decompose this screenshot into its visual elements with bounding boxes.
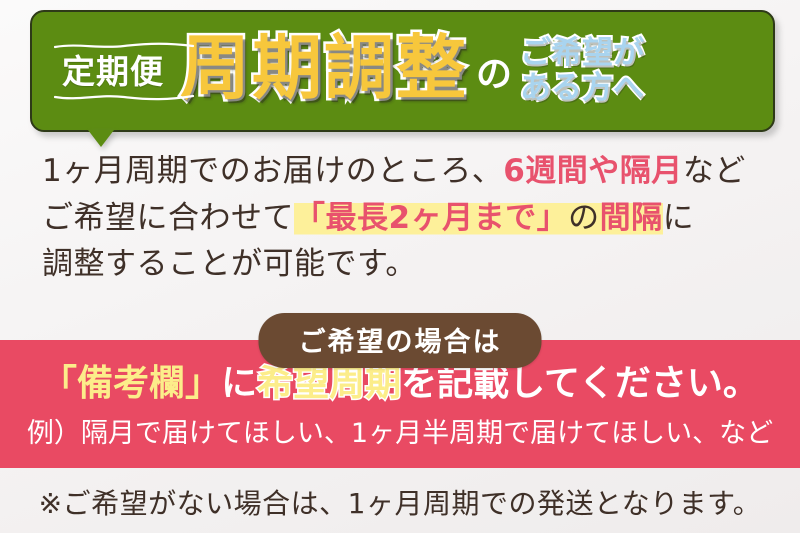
body-line-1-emphasis: 6週間や隔月 xyxy=(503,153,683,189)
body-line-2: ご希望に合わせて「最長2ヶ月まで」の間隔に xyxy=(42,195,772,242)
wave-rule-top-icon xyxy=(54,42,194,50)
header-title-particle: の xyxy=(476,57,512,93)
footer-note: ※ご希望がない場合は、1ヶ月周期での発送となります。 xyxy=(0,482,800,522)
body-line-2-emphasis-2: 間隔 xyxy=(600,200,663,236)
pink-headline-part-c: 希望周期 xyxy=(257,363,401,404)
header-title-sub-line2: ある方へ xyxy=(520,71,644,106)
header-title-sub: ご希望が ある方へ xyxy=(520,36,644,107)
pink-headline: 「備考欄」に希望周期を記載してください。 xyxy=(0,366,800,402)
body-line-3: 調整することが可能です。 xyxy=(42,241,772,288)
pink-example-text: 例）隔月で届けてほしい、1ヶ月半周期で届けてほしい、など xyxy=(0,420,800,447)
body-line-1-part-c: など xyxy=(683,153,746,189)
pink-headline-part-d: を記載してください。 xyxy=(401,363,759,404)
wave-rule-bottom-icon xyxy=(54,93,194,101)
header-title-main: 周期調整 xyxy=(180,33,468,103)
subscription-tag: 定期便 xyxy=(60,49,166,94)
body-paragraph: 1ヶ月周期でのお届けのところ、6週間や隔月など ご希望に合わせて「最長2ヶ月まで… xyxy=(42,148,772,288)
body-line-1-part-a: 1ヶ月周期でのお届けのところ、 xyxy=(42,153,503,189)
body-line-2-part-a: ご希望に合わせて xyxy=(42,200,294,236)
body-line-2-part-c: の xyxy=(568,200,600,236)
header-box-background: 定期便 周期調整 の ご希望が ある方へ xyxy=(30,10,775,132)
subscription-tag-label: 定期便 xyxy=(62,55,164,88)
pink-headline-part-b: に xyxy=(221,363,257,404)
request-case-badge: ご希望の場合は xyxy=(259,313,542,368)
promo-banner: 定期便 周期調整 の ご希望が ある方へ 1ヶ月周期でのお届け xyxy=(0,0,800,533)
body-line-2-emphasis: 「最長2ヶ月まで」 xyxy=(294,200,568,236)
body-line-1: 1ヶ月周期でのお届けのところ、6週間や隔月など xyxy=(42,148,772,195)
body-line-2-part-e: に xyxy=(663,200,695,236)
pink-headline-part-a: 「備考欄」 xyxy=(41,363,221,404)
speech-bubble-tail-icon xyxy=(88,130,114,147)
header-title-sub-line1: ご希望が xyxy=(520,36,644,71)
header-speech-box: 定期便 周期調整 の ご希望が ある方へ xyxy=(30,10,775,132)
